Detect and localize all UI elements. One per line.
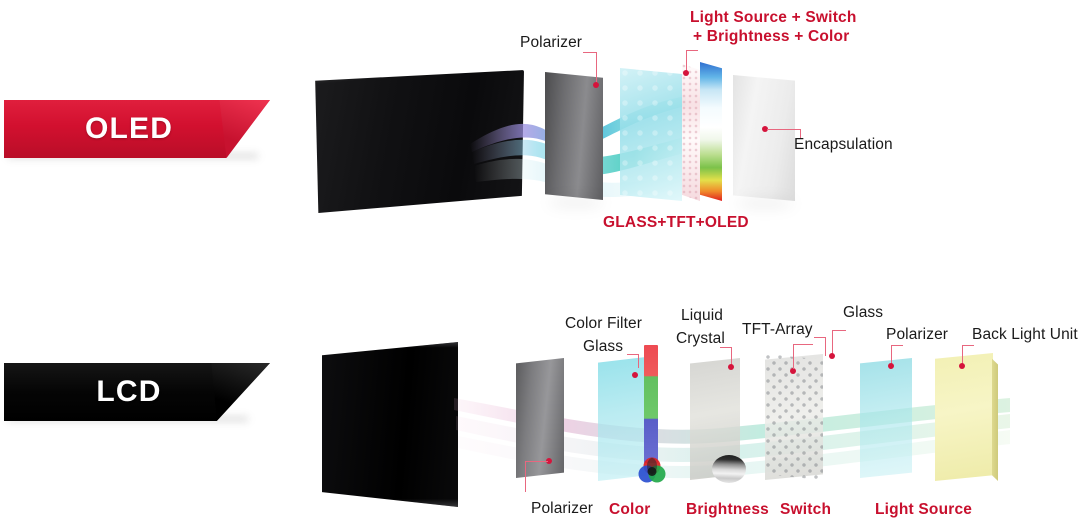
lcd-callout-back-light-label: Back Light Unit <box>972 325 1078 344</box>
lcd-callout-bl-dot <box>959 363 965 369</box>
lcd-layer-glass <box>860 358 912 478</box>
lcd-callout-color-filter-line1: Color Filter <box>565 314 642 333</box>
lcd-callout-color-filter-line2: Glass <box>583 337 623 356</box>
oled-callout-glass-tft-oled-label: GLASS+TFT+OLED <box>603 213 749 232</box>
oled-layer-emitter <box>700 62 722 201</box>
lcd-callout-glass-leader-h <box>832 330 846 331</box>
oled-banner-label: OLED <box>85 112 173 146</box>
oled-callout-encapsulation-label: Encapsulation <box>794 135 893 154</box>
lcd-callout-bl-leader-h <box>962 345 974 346</box>
lcd-callout-tft-leader-v2 <box>793 344 794 369</box>
lcd-glass-face <box>860 358 912 478</box>
oled-callout-lightsource-leader-h <box>686 50 698 51</box>
lcd-callout-pol-leader-h <box>891 345 903 346</box>
oled-callout-polarizer-leader-h <box>583 52 597 53</box>
oled-layer-encapsulation <box>733 75 795 201</box>
lcd-banner-tip <box>211 363 270 421</box>
lcd-callout-polarizer-top-label: Polarizer <box>886 325 948 344</box>
oled-callout-polarizer-label: Polarizer <box>520 33 582 52</box>
lcd-callout-lc-dot <box>728 364 734 370</box>
brightness-gradient-half-circle <box>712 455 746 483</box>
lcd-callout-cf-leader-v <box>638 354 639 368</box>
diagram-canvas: OLED <box>0 0 1084 532</box>
lcd-layer-polarizer <box>516 358 564 478</box>
oled-banner: OLED <box>4 100 270 158</box>
oled-layer-polarizer <box>545 72 603 200</box>
oled-tv-highlight <box>312 70 524 213</box>
lcd-callout-liquid-crystal-line1: Liquid <box>681 306 723 325</box>
oled-tft-texture <box>682 64 700 201</box>
oled-layer-tft <box>682 64 700 201</box>
lcd-callout-polbot-leader-h <box>525 461 548 462</box>
oled-banner-tip <box>219 100 270 158</box>
oled-callout-polarizer-dot <box>593 82 599 88</box>
lcd-callout-glass-dot <box>829 353 835 359</box>
lcd-banner: LCD <box>4 363 270 421</box>
lcd-callout-liquid-crystal-line2: Crystal <box>676 329 725 348</box>
rgb-color-strip <box>644 345 658 463</box>
oled-callout-lightsource-line1: Light Source + Switch <box>690 8 857 28</box>
lcd-callout-color-label: Color <box>609 500 650 519</box>
oled-callout-lightsource-dot <box>683 70 689 76</box>
lcd-callout-tft-array-label: TFT-Array <box>742 320 813 339</box>
lcd-layer-back-light-unit <box>935 353 993 481</box>
oled-encapsulation-shadow <box>736 199 794 208</box>
lcd-polarizer-face <box>516 358 564 478</box>
rgb-color-wheel <box>637 455 667 485</box>
lcd-tv-bezel <box>322 342 458 507</box>
oled-callout-polarizer-leader-v <box>596 52 597 85</box>
lcd-callout-pol-dot <box>888 363 894 369</box>
lcd-callout-polbot-leader-v <box>525 461 526 492</box>
lcd-back-light-edge <box>992 353 998 481</box>
oled-polarizer-shadow <box>548 198 604 207</box>
lcd-callout-light-source-label: Light Source <box>875 500 972 519</box>
lcd-callout-brightness-label: Brightness <box>686 500 769 519</box>
lcd-banner-label: LCD <box>96 375 161 409</box>
lcd-callout-tft-leader-v <box>825 337 826 356</box>
oled-polarizer-face <box>545 72 603 200</box>
oled-glass-texture <box>620 68 682 201</box>
lcd-callout-polarizer-bottom-label: Polarizer <box>531 499 593 518</box>
lcd-callout-glass-label: Glass <box>843 303 883 322</box>
oled-callout-lightsource-line2: + Brightness + Color <box>693 27 849 47</box>
lcd-back-light-face <box>935 353 993 481</box>
lcd-callout-tft-leader-h2 <box>793 344 813 345</box>
oled-tv-screen <box>312 70 524 213</box>
oled-emitter-face <box>700 62 722 201</box>
lcd-tv-screen <box>322 342 458 507</box>
oled-encapsulation-face <box>733 75 795 201</box>
lcd-callout-switch-label: Switch <box>780 500 831 519</box>
oled-layer-glass <box>620 68 682 201</box>
lcd-callout-cf-dot <box>632 372 638 378</box>
oled-callout-encapsulation-leader-h <box>767 129 801 130</box>
